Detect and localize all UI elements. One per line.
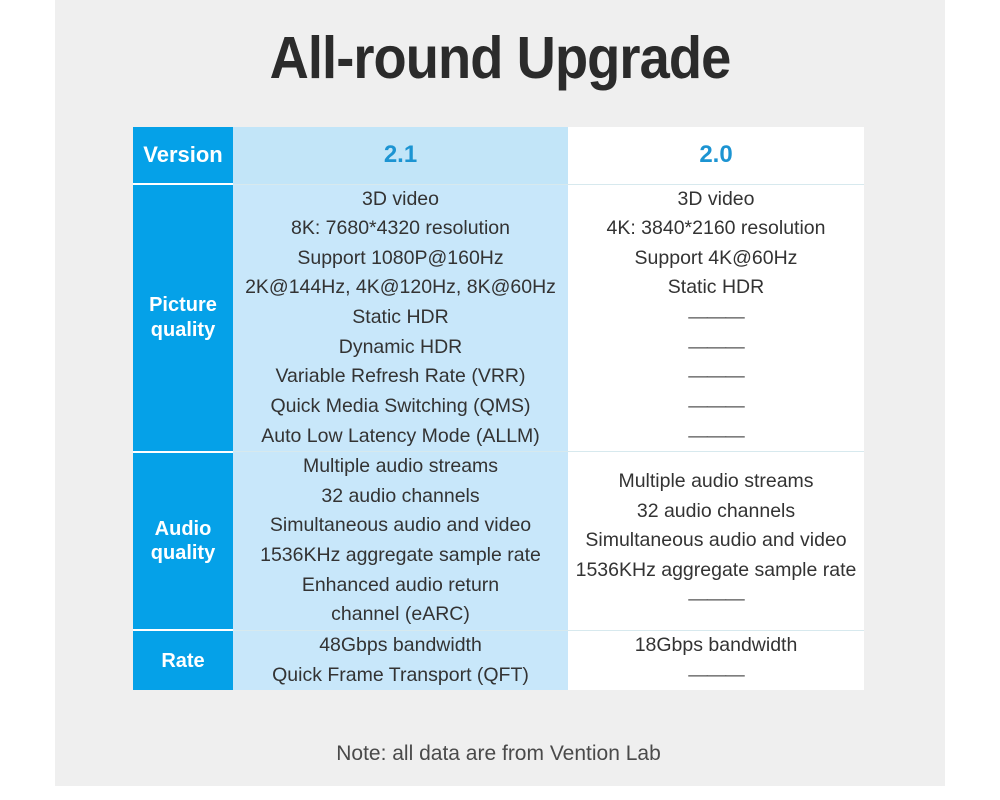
feature-line: 48Gbps bandwidth bbox=[233, 631, 568, 661]
footnote: Note: all data are from Vention Lab bbox=[133, 742, 864, 766]
feature-line: Static HDR bbox=[233, 303, 568, 333]
feature-line: Quick Media Switching (QMS) bbox=[233, 392, 568, 422]
feature-line: Simultaneous audio and video bbox=[568, 526, 864, 556]
feature-line: Multiple audio streams bbox=[568, 467, 864, 497]
feature-line: Variable Refresh Rate (VRR) bbox=[233, 362, 568, 392]
row-label-line-2: quality bbox=[133, 318, 233, 342]
unsupported-dash: ——— bbox=[568, 661, 864, 691]
feature-line: 18Gbps bandwidth bbox=[568, 631, 864, 661]
feature-line: 1536KHz aggregate sample rate bbox=[233, 541, 568, 571]
cell-picture-quality-v20: 3D video 4K: 3840*2160 resolution Suppor… bbox=[568, 184, 864, 452]
page-root: All-round Upgrade Version 2.1 2.0 Pictur… bbox=[0, 0, 1000, 800]
feature-line: Simultaneous audio and video bbox=[233, 511, 568, 541]
cell-rate-v20: 18Gbps bandwidth ——— bbox=[568, 630, 864, 690]
cell-audio-quality-v21: Multiple audio streams 32 audio channels… bbox=[233, 452, 568, 631]
feature-line: Quick Frame Transport (QFT) bbox=[233, 661, 568, 691]
feature-line: Dynamic HDR bbox=[233, 333, 568, 363]
row-label-audio-quality: Audio quality bbox=[133, 452, 233, 631]
header-cell-v21: 2.1 bbox=[233, 127, 568, 184]
feature-line: Static HDR bbox=[568, 273, 864, 303]
feature-line: Auto Low Latency Mode (ALLM) bbox=[233, 422, 568, 452]
feature-line: 2K@144Hz, 4K@120Hz, 8K@60Hz bbox=[233, 273, 568, 303]
cell-rate-v21: 48Gbps bandwidth Quick Frame Transport (… bbox=[233, 630, 568, 690]
unsupported-dash: ——— bbox=[568, 422, 864, 452]
feature-line: 32 audio channels bbox=[568, 497, 864, 527]
header-cell-version: Version bbox=[133, 127, 233, 184]
unsupported-dash: ——— bbox=[568, 333, 864, 363]
table-header-row: Version 2.1 2.0 bbox=[133, 127, 864, 184]
row-label-line-1: Rate bbox=[133, 649, 233, 673]
unsupported-dash: ——— bbox=[568, 362, 864, 392]
row-label-line-1: Audio bbox=[133, 517, 233, 541]
table-row: Rate 48Gbps bandwidth Quick Frame Transp… bbox=[133, 630, 864, 690]
feature-line: Support 4K@60Hz bbox=[568, 244, 864, 274]
row-label-rate: Rate bbox=[133, 630, 233, 690]
feature-line: 4K: 3840*2160 resolution bbox=[568, 214, 864, 244]
row-label-line-1: Picture bbox=[133, 293, 233, 317]
row-label-line-2: quality bbox=[133, 541, 233, 565]
table-row: Picture quality 3D video 8K: 7680*4320 r… bbox=[133, 184, 864, 452]
page-title: All-round Upgrade bbox=[91, 24, 910, 92]
feature-line: 8K: 7680*4320 resolution bbox=[233, 214, 568, 244]
feature-line: 3D video bbox=[568, 185, 864, 215]
cell-picture-quality-v21: 3D video 8K: 7680*4320 resolution Suppor… bbox=[233, 184, 568, 452]
header-cell-v20: 2.0 bbox=[568, 127, 864, 184]
feature-line: Enhanced audio return bbox=[233, 571, 568, 601]
table-row: Audio quality Multiple audio streams 32 … bbox=[133, 452, 864, 631]
feature-line: Multiple audio streams bbox=[233, 452, 568, 482]
feature-line: 32 audio channels bbox=[233, 482, 568, 512]
unsupported-dash: ——— bbox=[568, 392, 864, 422]
unsupported-dash: ——— bbox=[568, 585, 864, 615]
feature-line: 1536KHz aggregate sample rate bbox=[568, 556, 864, 586]
feature-line: 3D video bbox=[233, 185, 568, 215]
comparison-table: Version 2.1 2.0 Picture quality 3D video… bbox=[133, 127, 864, 690]
cell-audio-quality-v20: Multiple audio streams 32 audio channels… bbox=[568, 452, 864, 631]
feature-line: Support 1080P@160Hz bbox=[233, 244, 568, 274]
feature-line: channel (eARC) bbox=[233, 600, 568, 630]
unsupported-dash: ——— bbox=[568, 303, 864, 333]
row-label-picture-quality: Picture quality bbox=[133, 184, 233, 452]
